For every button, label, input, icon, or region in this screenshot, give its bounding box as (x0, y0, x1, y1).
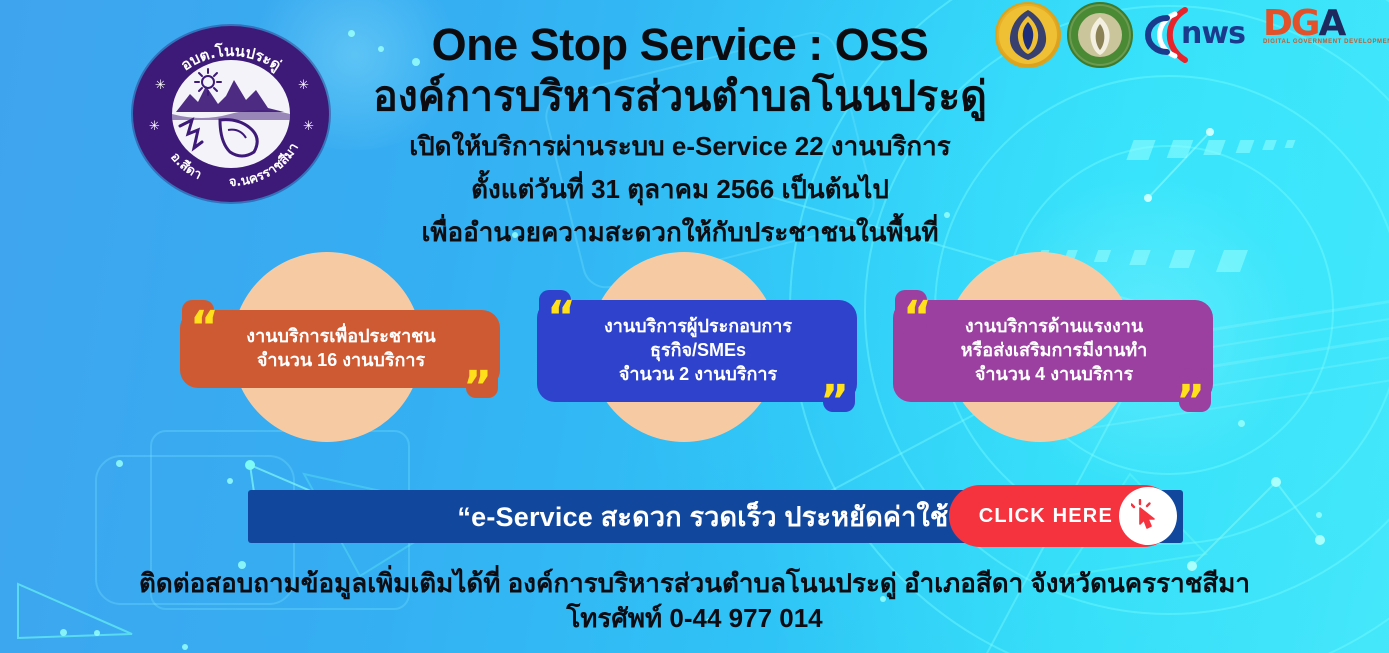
card-line-3: จำนวน 2 งานบริการ (583, 362, 813, 386)
quote-close-icon: ” (1176, 380, 1205, 424)
dga-subtitle: DIGITAL GOVERNMENT DEVELOPMENT AGENCY (1263, 39, 1371, 45)
nws-logo: nws (1139, 4, 1257, 66)
dga-letter-d: D (1263, 6, 1291, 42)
dga-logo: D G A DIGITAL GOVERNMENT DEVELOPMENT AGE… (1263, 6, 1371, 64)
ministry-interior-emblem-icon (1067, 2, 1133, 68)
contact-footer: ติดต่อสอบถามข้อมูลเพิ่มเติมได้ที่ องค์กา… (0, 568, 1389, 638)
card-body-labor: “ งานบริการด้านแรงงาน หรือส่งเสริมการมีง… (893, 300, 1213, 402)
card-line-3: จำนวน 4 งานบริการ (939, 362, 1169, 386)
nws-logo-text: nws (1181, 16, 1245, 51)
service-card-business: “ งานบริการผู้ประกอบการ ธุรกิจ/SMEs จำนว… (537, 252, 867, 452)
subtitle-line-3: เพื่ออำนวยความสะดวกให้กับประชาชนในพื้นที… (330, 214, 1030, 251)
service-card-citizens: “ งานบริการเพื่อประชาชน จำนวน 16 งานบริก… (180, 252, 510, 452)
partner-logos: nws D G A DIGITAL GOVERNMENT DEVELOPMENT… (995, 2, 1371, 68)
quote-close-icon: ” (463, 366, 492, 410)
quote-open-icon: “ (903, 296, 932, 340)
quote-open-icon: “ (547, 296, 576, 340)
title-thai: องค์การบริหารส่วนตำบลโนนประดู่ (330, 71, 1030, 122)
quote-close-icon: ” (820, 380, 849, 424)
oss-service-banner: อบต.โนนประดู่ อ.สีดา จ.นครราชสีมา ✳ ✳ ✳ … (0, 0, 1389, 653)
banner-headings: One Stop Service : OSS องค์การบริหารส่วน… (330, 22, 1030, 251)
click-here-label: CLICK HERE (979, 505, 1113, 528)
click-here-button[interactable]: CLICK HERE (949, 485, 1175, 547)
dga-letter-g: G (1291, 6, 1319, 42)
card-line-1: งานบริการผู้ประกอบการ (583, 314, 813, 338)
quote-open-icon: “ (190, 306, 219, 350)
card-line-1: งานบริการเพื่อประชาชน (226, 324, 456, 348)
service-cards: “ งานบริการเพื่อประชาชน จำนวน 16 งานบริก… (0, 252, 1389, 452)
card-body-business: “ งานบริการผู้ประกอบการ ธุรกิจ/SMEs จำนว… (537, 300, 857, 402)
footer-line-1: ติดต่อสอบถามข้อมูลเพิ่มเติมได้ที่ องค์กา… (0, 568, 1389, 599)
subtitle-line-2: ตั้งแต่วันที่ 31 ตุลาคม 2566 เป็นต้นไป (330, 171, 1030, 208)
card-line-2: จำนวน 16 งานบริการ (226, 348, 456, 372)
footer-line-2: โทรศัพท์ 0-44 977 014 (0, 599, 1389, 638)
subtitle-line-1: เปิดให้บริการผ่านระบบ e-Service 22 งานบร… (330, 128, 1030, 165)
cta-bar: “e-Service สะดวก รวดเร็ว ประหยัดค่าใช้จ่… (248, 490, 1183, 543)
card-line-2: หรือส่งเสริมการมีงานทำ (939, 338, 1169, 362)
seal-landscape-emblem (172, 60, 290, 168)
card-body-citizens: “ งานบริการเพื่อประชาชน จำนวน 16 งานบริก… (180, 310, 500, 388)
card-line-1: งานบริการด้านแรงงาน (939, 314, 1169, 338)
municipality-seal-logo: อบต.โนนประดู่ อ.สีดา จ.นครราชสีมา ✳ ✳ ✳ … (133, 26, 329, 202)
dga-letter-a: A (1318, 6, 1344, 42)
cursor-click-icon (1119, 487, 1177, 545)
card-line-2: ธุรกิจ/SMEs (583, 338, 813, 362)
title-english: One Stop Service : OSS (330, 22, 1030, 67)
service-card-labor: “ งานบริการด้านแรงงาน หรือส่งเสริมการมีง… (893, 252, 1223, 452)
